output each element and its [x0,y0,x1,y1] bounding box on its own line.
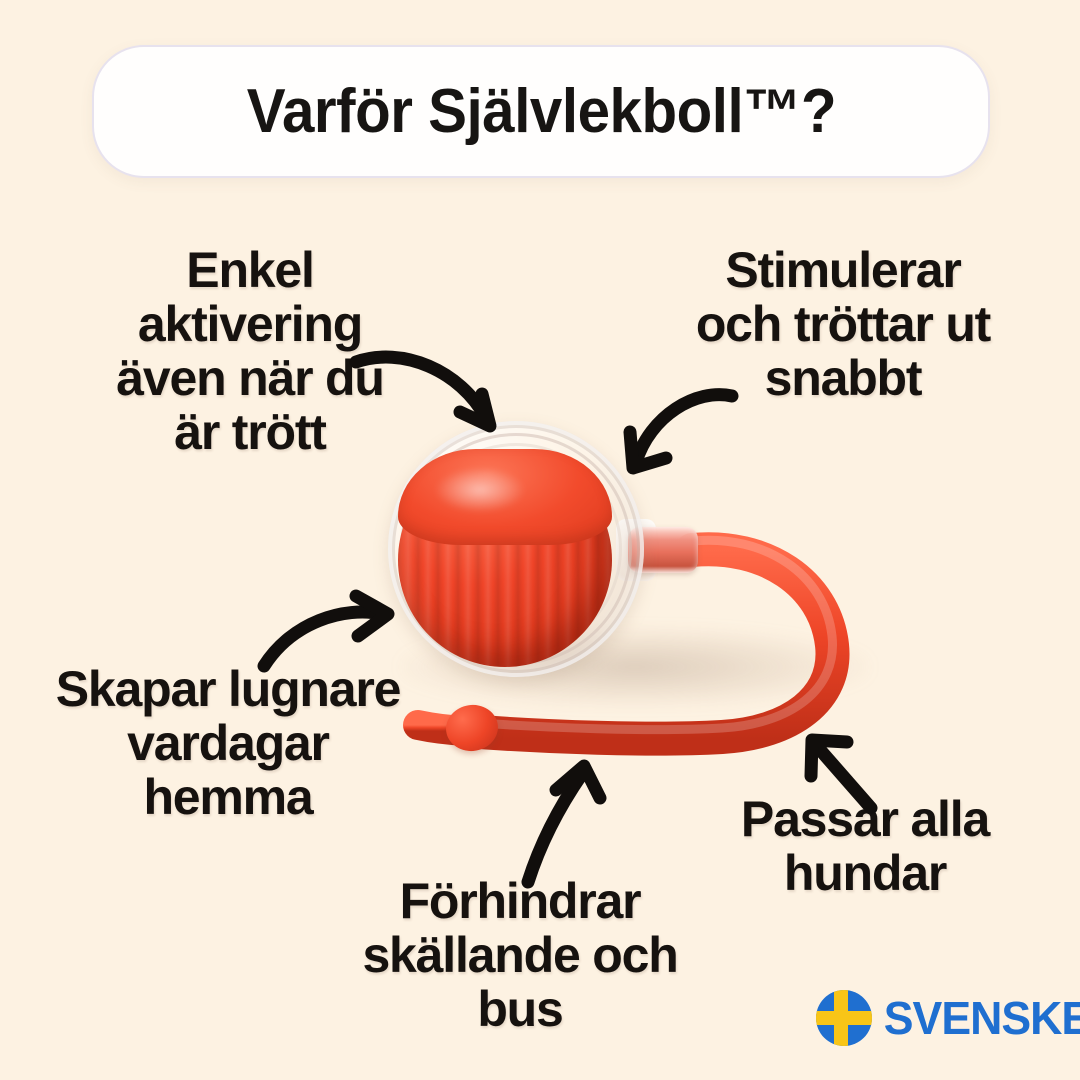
swedish-flag-icon [816,990,872,1046]
brand-logo: SVENSKEY. [816,990,1080,1046]
callout-label-stimulerar: Stimulerar och tröttar ut snabbt [648,243,1038,405]
brand-wordmark: SVENSKEY. [884,995,1080,1041]
poster-canvas: Varför Självlekboll™? [0,0,1080,1080]
callout-label-passar-alla-hundar: Passar alla hundar [700,792,1030,900]
title-card: Varför Självlekboll™? [92,45,990,178]
product-image [370,415,930,805]
ball-highlight [434,467,526,513]
callout-label-forhindrar-skallande: Förhindrar skällande och bus [330,874,710,1036]
page-title: Varför Självlekboll™? [246,76,835,147]
flag-cross-vertical [834,990,848,1046]
callout-label-lugnare-vardagar: Skapar lugnare vardagar hemma [8,662,448,824]
callout-label-enkel-aktivering: Enkel aktivering även när du är trött [80,243,420,459]
